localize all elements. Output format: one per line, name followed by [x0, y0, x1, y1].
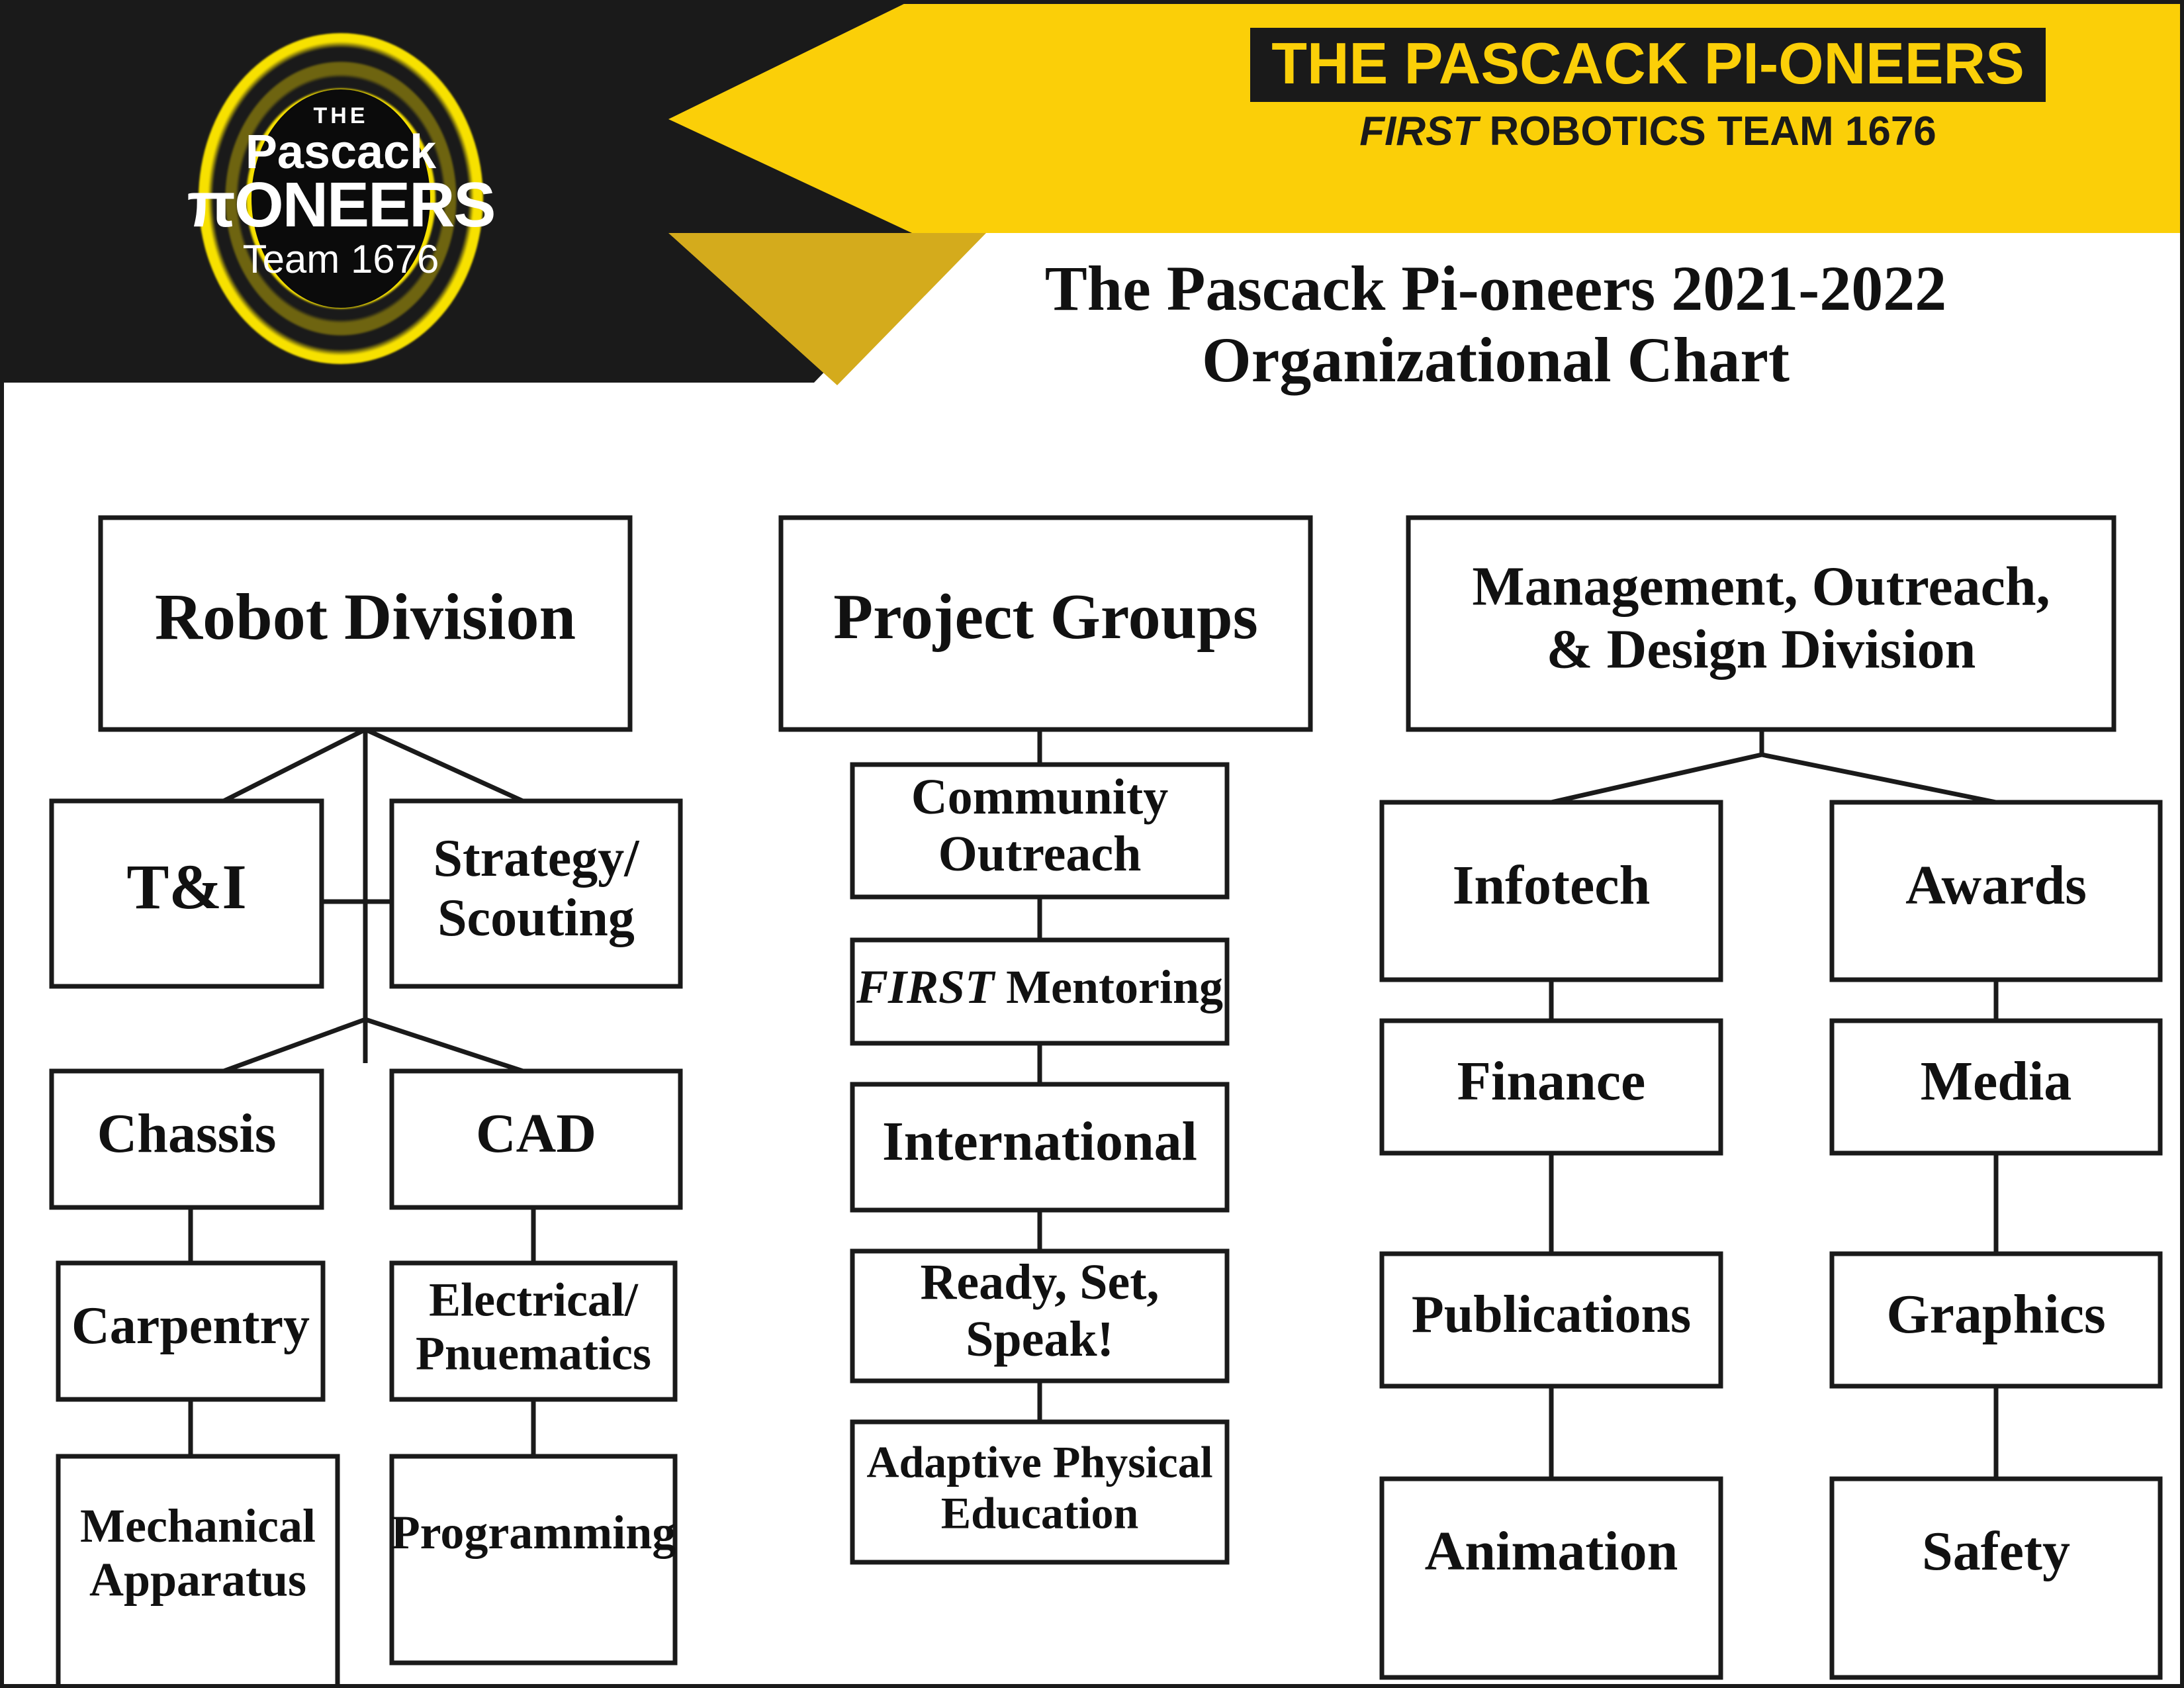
node-publications[interactable]: Publications [1382, 1254, 1721, 1386]
connector-rd-to-ti [224, 729, 365, 801]
org-chart-canvas: Robot DivisionT&IStrategy/ScoutingChassi… [0, 397, 2184, 1688]
connector-lower-to-chassis [224, 1019, 365, 1071]
node-robot-division[interactable]: Robot Division [101, 518, 630, 729]
node-label-publications: Publications [1412, 1286, 1691, 1344]
banner-subtitle: FIRST ROBOTICS TEAM 1676 [1165, 111, 2131, 152]
node-safety[interactable]: Safety [1832, 1479, 2160, 1677]
node-graphics[interactable]: Graphics [1832, 1254, 2160, 1386]
node-management-division[interactable]: Management, Outreach,& Design Division [1408, 518, 2114, 729]
node-label-first-mentoring: FIRST Mentoring [856, 961, 1223, 1013]
logo-the-text: THE [156, 105, 526, 127]
node-first-mentoring[interactable]: FIRST Mentoring [852, 940, 1227, 1043]
connector-rd-to-strategy [365, 729, 523, 801]
node-label-programming: Programming [391, 1505, 676, 1558]
node-label-electrical-pneumatics: Electrical/Pnuematics [416, 1273, 651, 1380]
node-infotech[interactable]: Infotech [1382, 802, 1721, 980]
node-label-international: International [882, 1111, 1197, 1172]
node-label-chassis: Chassis [97, 1103, 277, 1164]
node-project-groups[interactable]: Project Groups [781, 518, 1310, 729]
node-label-safety: Safety [1922, 1521, 2070, 1583]
banner-title-plate: THE PASCACK PI-ONEERS [1250, 28, 2046, 102]
node-electrical-pneumatics[interactable]: Electrical/Pnuematics [392, 1263, 675, 1399]
node-layer: Robot DivisionT&IStrategy/ScoutingChassi… [52, 518, 2160, 1688]
node-carpentry[interactable]: Carpentry [58, 1263, 323, 1399]
node-label-carpentry: Carpentry [71, 1297, 310, 1355]
node-ready-set-speak[interactable]: Ready, Set,Speak! [852, 1251, 1227, 1381]
node-label-media: Media [1921, 1051, 2072, 1112]
node-label-finance: Finance [1457, 1051, 1646, 1112]
node-ti[interactable]: T&I [52, 801, 322, 986]
page-title-line-1: The Pascack Pi-oneers 2021-2022 [854, 253, 2138, 324]
node-mechanical-apparatus[interactable]: MechanicalApparatus [58, 1456, 338, 1688]
banner-subtitle-rest: ROBOTICS TEAM 1676 [1478, 109, 1936, 154]
node-strategy-scouting[interactable]: Strategy/Scouting [392, 801, 680, 986]
page-title-line-2: Organizational Chart [854, 324, 2138, 396]
org-chart-page: THE Pascack πONEERS Team 1676 THE PASCAC… [0, 0, 2184, 1688]
node-adaptive-pe[interactable]: Adaptive PhysicalEducation [852, 1422, 1227, 1562]
node-box-programming[interactable] [392, 1456, 675, 1663]
node-programming[interactable]: Programming [391, 1456, 676, 1663]
node-label-graphics: Graphics [1886, 1284, 2105, 1345]
logo-text-block: THE Pascack πONEERS Team 1676 [156, 105, 526, 279]
node-media[interactable]: Media [1832, 1021, 2160, 1153]
node-label-community-outreach: CommunityOutreach [911, 769, 1168, 882]
node-community-outreach[interactable]: CommunityOutreach [852, 765, 1227, 897]
node-finance[interactable]: Finance [1382, 1021, 1721, 1153]
connector-md-to-infotech [1551, 755, 1762, 802]
node-animation[interactable]: Animation [1382, 1479, 1721, 1677]
node-label-project-groups: Project Groups [833, 581, 1257, 653]
connector-md-to-awards [1762, 755, 1996, 802]
node-label-mechanical-apparatus: MechanicalApparatus [80, 1499, 316, 1605]
logo-team-number-text: Team 1676 [156, 240, 526, 279]
node-label-animation: Animation [1425, 1521, 1678, 1583]
node-label-robot-division: Robot Division [155, 580, 576, 653]
node-label-awards: Awards [1905, 855, 2087, 916]
node-label-cad: CAD [476, 1103, 596, 1164]
team-logo: THE Pascack πONEERS Team 1676 [156, 26, 526, 371]
node-international[interactable]: International [852, 1084, 1227, 1210]
node-label-ti: T&I [126, 851, 246, 922]
node-label-infotech: Infotech [1453, 855, 1651, 916]
banner-first-word: FIRST [1359, 109, 1478, 154]
node-cad[interactable]: CAD [392, 1071, 680, 1207]
node-label-management-division: Management, Outreach,& Design Division [1472, 556, 2050, 680]
node-awards[interactable]: Awards [1832, 802, 2160, 980]
connector-lower-to-cad [365, 1019, 523, 1071]
node-chassis[interactable]: Chassis [52, 1071, 322, 1207]
header-banner: THE PASCACK PI-ONEERS FIRST ROBOTICS TEA… [1165, 28, 2131, 152]
logo-pioneers-text: πONEERS [156, 173, 526, 237]
banner-title-text: THE PASCACK PI-ONEERS [1271, 34, 2025, 93]
page-title: The Pascack Pi-oneers 2021-2022 Organiza… [854, 253, 2138, 395]
